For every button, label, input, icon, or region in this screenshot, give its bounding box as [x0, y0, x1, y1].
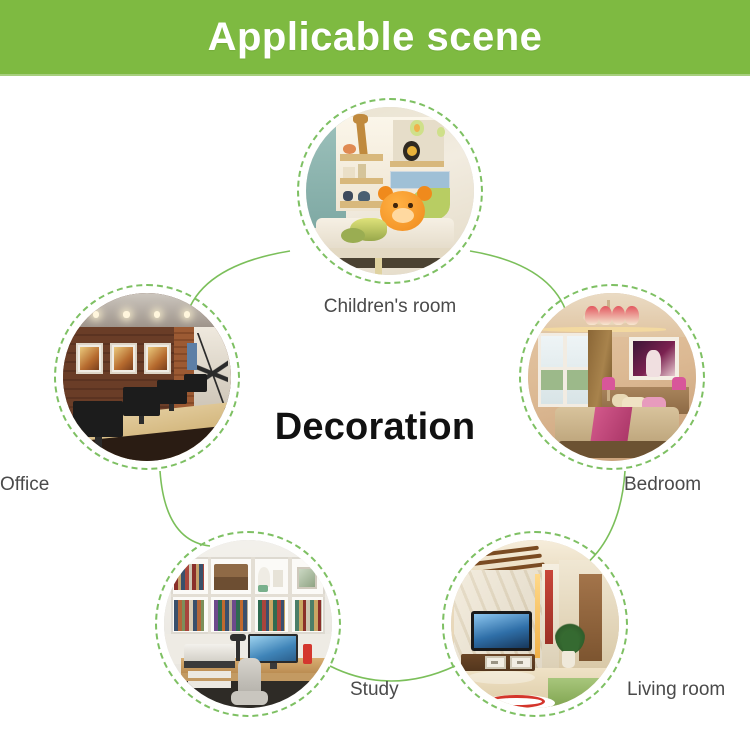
bedroom-label: Bedroom	[624, 474, 701, 496]
living-room-photo	[451, 540, 619, 708]
header-banner: Applicable scene	[0, 0, 750, 74]
office-photo	[63, 293, 231, 461]
living-room-label: Living room	[627, 679, 725, 701]
bedroom-photo	[528, 293, 696, 461]
page-title: Applicable scene	[208, 15, 543, 60]
office-label: Office	[0, 474, 49, 496]
childrens-room-photo	[306, 107, 474, 275]
study-photo	[164, 540, 332, 708]
bedroom-circle[interactable]	[519, 284, 705, 470]
office-circle[interactable]	[54, 284, 240, 470]
living-room-circle[interactable]	[442, 531, 628, 717]
children-room-label: Children's room	[307, 296, 473, 318]
study-label: Study	[350, 679, 399, 701]
scene-diagram: Decoration	[0, 76, 750, 750]
study-circle[interactable]	[155, 531, 341, 717]
children-room-circle[interactable]	[297, 98, 483, 284]
